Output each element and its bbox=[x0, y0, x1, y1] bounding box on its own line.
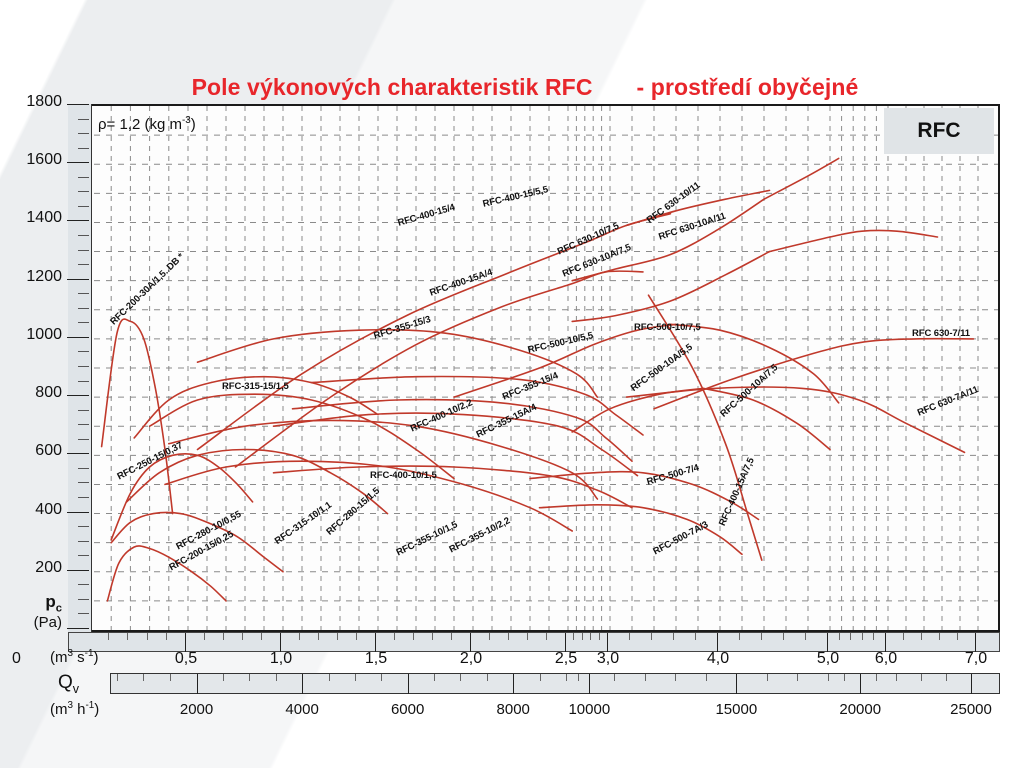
x-axis-unit-secondary: (m3 h-1) bbox=[50, 700, 99, 718]
y-axis-tick bbox=[67, 628, 89, 629]
y-axis-tick bbox=[67, 395, 89, 396]
y-tick-label: 1400 bbox=[6, 209, 62, 227]
y-axis-tick bbox=[78, 351, 89, 352]
title-main: Pole výkonových charakteristik RFC bbox=[192, 74, 593, 100]
x-axis-tick bbox=[873, 633, 874, 640]
x-axis-tick bbox=[805, 633, 806, 640]
x-axis-tick bbox=[127, 633, 128, 640]
x-axis-tick-secondary bbox=[736, 674, 737, 694]
x-axis-tick-secondary bbox=[302, 674, 303, 694]
x-axis-tick-secondary bbox=[706, 674, 707, 681]
y-axis-ruler bbox=[68, 104, 92, 632]
x-axis-tick-secondary bbox=[946, 674, 947, 681]
x-axis-tick bbox=[939, 633, 940, 640]
y-axis-tick bbox=[78, 308, 89, 309]
y-axis-unit: (Pa) bbox=[0, 614, 62, 631]
y-axis-tick bbox=[78, 613, 89, 614]
y-tick-label: 1000 bbox=[6, 326, 62, 344]
x-axis-tick-secondary bbox=[460, 674, 461, 681]
x-axis-tick bbox=[261, 633, 262, 640]
x-tick-label-primary: 5,0 bbox=[817, 650, 839, 668]
y-axis-tick bbox=[78, 541, 89, 542]
x-axis-tick-secondary bbox=[896, 674, 897, 681]
x-axis-tick-secondary bbox=[170, 674, 171, 681]
x-axis-tick-secondary bbox=[589, 674, 590, 694]
y-axis-tick bbox=[78, 177, 89, 178]
rfc-badge-label: RFC bbox=[917, 119, 960, 143]
y-axis-tick bbox=[78, 584, 89, 585]
x-axis-tick bbox=[108, 633, 109, 640]
y-axis-tick bbox=[67, 104, 89, 105]
x-tick-label-primary: 6,0 bbox=[875, 650, 897, 668]
x-axis-tick bbox=[695, 633, 696, 640]
y-axis-tick bbox=[67, 570, 89, 571]
x-axis-tick-secondary bbox=[540, 674, 541, 681]
y-axis-tick bbox=[78, 191, 89, 192]
x-axis-tick-secondary bbox=[143, 674, 144, 681]
x-axis-tick bbox=[527, 633, 528, 640]
x-tick-label-primary: 4,0 bbox=[707, 650, 729, 668]
y-tick-label: 1600 bbox=[6, 151, 62, 169]
y-axis-tick bbox=[78, 366, 89, 367]
x-axis-tick-secondary bbox=[513, 674, 514, 694]
y-axis-tick bbox=[67, 162, 89, 163]
x-axis-ruler-secondary bbox=[110, 673, 1000, 694]
x-axis-tick bbox=[242, 633, 243, 640]
x-axis-unit-primary: (m3 s-1) bbox=[50, 648, 98, 666]
x-axis-tick bbox=[850, 633, 851, 640]
rfc-badge: RFC bbox=[884, 108, 994, 154]
x-axis-tick bbox=[599, 633, 600, 640]
x-axis-tick bbox=[432, 633, 433, 640]
x-axis-tick bbox=[318, 633, 319, 640]
x-axis-tick-secondary bbox=[645, 674, 646, 681]
x-axis-tick bbox=[739, 633, 740, 640]
y-axis-tick bbox=[78, 526, 89, 527]
x-axis-tick bbox=[862, 633, 863, 640]
x-tick-label-secondary: 25000 bbox=[950, 701, 992, 718]
x-axis-tick bbox=[673, 633, 674, 640]
x-axis-tick bbox=[839, 633, 840, 640]
curve-rfc-355-10-2-2 bbox=[169, 420, 598, 499]
y-axis-zero-label: 0 bbox=[12, 650, 21, 668]
y-axis-tick bbox=[78, 322, 89, 323]
x-tick-label-primary: 1,5 bbox=[365, 650, 387, 668]
x-axis-tick-secondary bbox=[197, 674, 198, 694]
x-axis-tick-secondary bbox=[381, 674, 382, 681]
y-axis-tick bbox=[78, 410, 89, 411]
y-tick-label: 800 bbox=[6, 384, 62, 402]
y-tick-label: 1800 bbox=[6, 93, 62, 111]
y-axis-tick bbox=[78, 293, 89, 294]
x-tick-label-secondary: 20000 bbox=[839, 701, 881, 718]
y-axis-tick bbox=[78, 599, 89, 600]
x-axis-tick-secondary bbox=[860, 674, 861, 694]
x-tick-label-secondary: 2000 bbox=[180, 701, 213, 718]
x-tick-label-secondary: 4000 bbox=[285, 701, 318, 718]
x-axis-title: Qv bbox=[58, 672, 79, 696]
x-tick-label-secondary: 15000 bbox=[715, 701, 757, 718]
y-axis-tick bbox=[78, 206, 89, 207]
density-annotation: ρ= 1,2 (kg m-3) bbox=[98, 115, 196, 133]
x-axis-tick-secondary bbox=[797, 674, 798, 681]
x-axis-tick bbox=[299, 633, 300, 640]
x-tick-label-secondary: 8000 bbox=[497, 701, 530, 718]
x-axis-tick-secondary bbox=[355, 674, 356, 681]
chart-page: Pole výkonových charakteristik RFC- pros… bbox=[0, 0, 1024, 768]
y-axis-tick bbox=[67, 337, 89, 338]
y-tick-label: 400 bbox=[6, 501, 62, 519]
x-tick-label-primary: 7,0 bbox=[965, 650, 987, 668]
x-axis-tick-secondary bbox=[249, 674, 250, 681]
y-axis-tick bbox=[78, 133, 89, 134]
x-axis-tick-secondary bbox=[487, 674, 488, 681]
title-suffix: - prostředí obyčejné bbox=[637, 74, 859, 100]
x-tick-label-primary: 0,5 bbox=[175, 650, 197, 668]
x-axis-tick-secondary bbox=[434, 674, 435, 681]
y-axis-tick bbox=[78, 555, 89, 556]
x-axis-tick-secondary bbox=[578, 674, 579, 681]
curve-rfc-200-30a-1-5-db- bbox=[102, 319, 173, 514]
x-axis-tick-secondary bbox=[117, 674, 118, 681]
y-axis-tick bbox=[78, 250, 89, 251]
x-axis-tick bbox=[356, 633, 357, 640]
x-tick-label-primary: 2,0 bbox=[460, 650, 482, 668]
y-tick-label: 1200 bbox=[6, 268, 62, 286]
x-axis-tick bbox=[921, 633, 922, 640]
x-axis-tick bbox=[783, 633, 784, 640]
x-axis-tick bbox=[489, 633, 490, 640]
x-axis-tick-secondary bbox=[329, 674, 330, 681]
y-axis-tick bbox=[78, 235, 89, 236]
y-tick-label: 200 bbox=[6, 559, 62, 577]
x-axis-tick-secondary bbox=[828, 674, 829, 681]
curve-rfc-200-15-0-25 bbox=[107, 546, 226, 601]
y-axis-tick bbox=[67, 220, 89, 221]
x-axis-tick bbox=[546, 633, 547, 640]
y-axis-tick bbox=[78, 439, 89, 440]
y-axis-tick bbox=[67, 512, 89, 513]
x-axis-tick bbox=[337, 633, 338, 640]
y-axis-tick bbox=[78, 497, 89, 498]
x-axis-tick-secondary bbox=[408, 674, 409, 694]
x-tick-label-secondary: 6000 bbox=[391, 701, 424, 718]
x-axis-ruler-primary bbox=[68, 632, 1000, 652]
y-axis-tick bbox=[78, 119, 89, 120]
x-axis-tick-secondary bbox=[223, 674, 224, 681]
curve-label: RFC-315-15/1,5 bbox=[222, 381, 289, 392]
x-axis-tick-secondary bbox=[614, 674, 615, 681]
x-axis-tick bbox=[761, 633, 762, 640]
x-axis-tick bbox=[651, 633, 652, 640]
y-axis-tick bbox=[78, 381, 89, 382]
x-axis-tick-secondary bbox=[767, 674, 768, 681]
x-axis-tick-secondary bbox=[844, 674, 845, 681]
x-tick-label-secondary: 10000 bbox=[568, 701, 610, 718]
x-axis-tick bbox=[957, 633, 958, 640]
y-axis-tick bbox=[78, 468, 89, 469]
y-axis-tick bbox=[78, 424, 89, 425]
y-axis-tick bbox=[78, 482, 89, 483]
x-axis-tick bbox=[204, 633, 205, 640]
curve-label: RFC-500-10/7,5 bbox=[634, 322, 701, 333]
y-tick-label: 600 bbox=[6, 442, 62, 460]
x-axis-tick bbox=[508, 633, 509, 640]
x-axis-tick-secondary bbox=[971, 674, 972, 694]
x-axis-tick bbox=[582, 633, 583, 640]
x-axis-tick-secondary bbox=[276, 674, 277, 681]
x-axis-tick bbox=[223, 633, 224, 640]
x-axis-tick bbox=[147, 633, 148, 640]
y-axis-labels: 18001600140012001000800600400200 bbox=[0, 104, 62, 632]
x-axis-tick-secondary bbox=[566, 674, 567, 681]
curve-label: RFC 630-7/11 bbox=[912, 328, 970, 339]
x-axis-tick bbox=[629, 633, 630, 640]
x-tick-label-primary: 2,5 bbox=[555, 650, 577, 668]
x-axis-tick bbox=[451, 633, 452, 640]
x-axis-tick-secondary bbox=[876, 674, 877, 681]
y-axis-tick bbox=[67, 279, 89, 280]
x-axis-tick-secondary bbox=[921, 674, 922, 681]
x-axis-tick bbox=[903, 633, 904, 640]
x-axis-tick bbox=[573, 633, 574, 640]
x-axis-tick bbox=[166, 633, 167, 640]
x-axis-tick bbox=[590, 633, 591, 640]
y-axis-tick bbox=[78, 264, 89, 265]
x-axis-tick-secondary bbox=[675, 674, 676, 681]
x-tick-label-primary: 3,0 bbox=[597, 650, 619, 668]
y-axis-tick bbox=[67, 453, 89, 454]
y-axis-tick bbox=[78, 148, 89, 149]
curve-label: RFC-400-10/1,5 bbox=[370, 470, 437, 481]
y-axis-title: pc bbox=[0, 592, 62, 614]
x-axis-tick bbox=[394, 633, 395, 640]
x-axis-tick bbox=[413, 633, 414, 640]
x-tick-label-primary: 1,0 bbox=[270, 650, 292, 668]
